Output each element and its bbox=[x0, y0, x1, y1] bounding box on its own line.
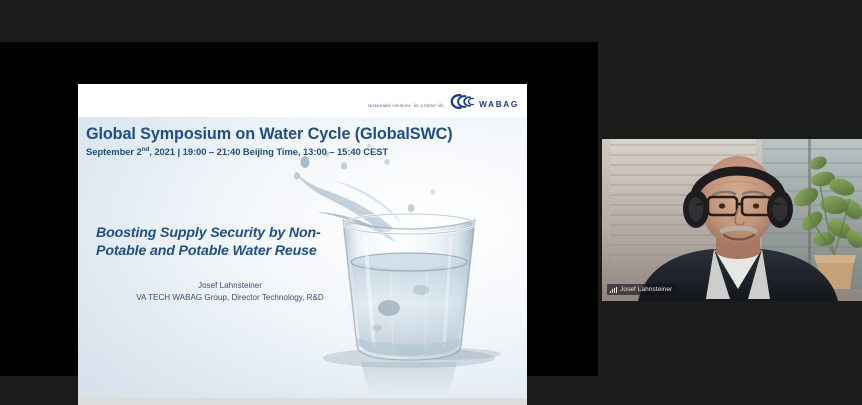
presentation-slide[interactable]: sustainable solutions. for a better life… bbox=[78, 84, 527, 405]
speaker-name: Josef Lahnsteiner bbox=[100, 280, 360, 292]
water-glass-splash-image bbox=[281, 132, 527, 400]
event-datetime: September 2nd, 2021 | 19:00 – 21:40 Beij… bbox=[86, 146, 506, 157]
participant-webcam-image bbox=[602, 139, 862, 301]
participant-video-tile[interactable]: Josef Lahnsteiner bbox=[602, 139, 862, 301]
signal-bars-icon bbox=[610, 287, 617, 293]
speaker-role: VA TECH WABAG Group, Director Technology… bbox=[100, 292, 360, 304]
wabag-logo-lockup: sustainable solutions. for a better life… bbox=[368, 94, 519, 114]
participant-name: Josef Lahnsteiner bbox=[620, 286, 672, 293]
event-date-prefix: September 2 bbox=[86, 146, 142, 157]
presentation-title: Boosting Supply Security by Non- Potable… bbox=[96, 224, 358, 260]
meeting-window: sustainable solutions. for a better life… bbox=[0, 0, 862, 405]
slide-headline-block: Global Symposium on Water Cycle (GlobalS… bbox=[86, 125, 506, 157]
participant-name-badge: Josef Lahnsteiner bbox=[607, 284, 676, 295]
brand-tagline: sustainable solutions. for a better life… bbox=[368, 103, 446, 108]
wabag-swoosh-icon bbox=[450, 94, 474, 114]
presentation-title-line-1: Boosting Supply Security by Non- bbox=[96, 224, 358, 242]
event-title: Global Symposium on Water Cycle (GlobalS… bbox=[86, 125, 506, 143]
speaker-credit: Josef Lahnsteiner VA TECH WABAG Group, D… bbox=[100, 280, 360, 303]
event-date-rest: , 2021 | 19:00 – 21:40 Beijing Time, 13:… bbox=[149, 146, 388, 157]
shared-screen-stage[interactable]: sustainable solutions. for a better life… bbox=[0, 42, 598, 376]
wabag-wordmark: WABAG bbox=[479, 100, 519, 109]
slide-footer-band bbox=[78, 398, 527, 405]
presentation-title-line-2: Potable and Potable Water Reuse bbox=[96, 242, 358, 260]
